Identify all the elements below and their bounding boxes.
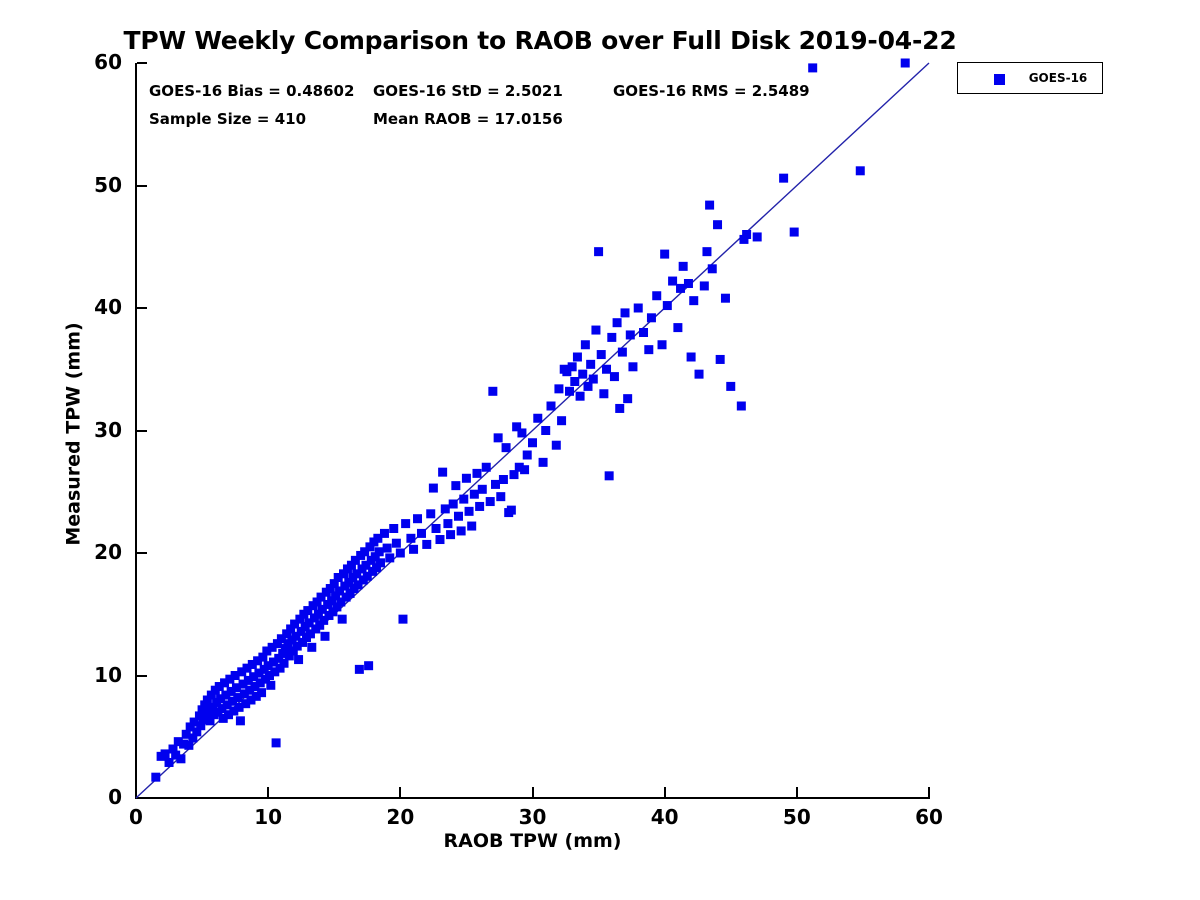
legend-label-goes16: GOES-16 bbox=[1018, 71, 1098, 85]
stat-mean-raob: Mean RAOB = 17.0156 bbox=[373, 110, 563, 128]
x-ticklabel-10: 10 bbox=[238, 805, 298, 829]
x-axis-line bbox=[135, 797, 930, 799]
chart-title: TPW Weekly Comparison to RAOB over Full … bbox=[0, 26, 1080, 55]
x-ticklabel-20: 20 bbox=[370, 805, 430, 829]
legend-marker-goes16 bbox=[994, 74, 1005, 85]
y-tick-10 bbox=[137, 675, 147, 677]
stat-sample-size: Sample Size = 410 bbox=[149, 110, 306, 128]
x-axis-label: RAOB TPW (mm) bbox=[136, 830, 929, 852]
x-ticklabel-50: 50 bbox=[767, 805, 827, 829]
y-tick-50 bbox=[137, 185, 147, 187]
x-tick-10 bbox=[267, 787, 269, 797]
x-tick-20 bbox=[399, 787, 401, 797]
stat-rms: GOES-16 RMS = 2.5489 bbox=[613, 82, 810, 100]
y-tick-30 bbox=[137, 430, 147, 432]
x-tick-50 bbox=[796, 787, 798, 797]
x-ticklabel-40: 40 bbox=[635, 805, 695, 829]
stat-bias: GOES-16 Bias = 0.48602 bbox=[149, 82, 354, 100]
y-tick-60 bbox=[137, 62, 147, 64]
legend-box: GOES-16 bbox=[957, 62, 1103, 94]
y-tick-40 bbox=[137, 307, 147, 309]
x-ticklabel-0: 0 bbox=[106, 805, 166, 829]
x-ticklabel-60: 60 bbox=[899, 805, 959, 829]
plot-area bbox=[136, 63, 929, 798]
stat-std: GOES-16 StD = 2.5021 bbox=[373, 82, 563, 100]
y-tick-0 bbox=[137, 797, 147, 799]
x-tick-0 bbox=[135, 787, 137, 797]
x-ticklabel-30: 30 bbox=[503, 805, 563, 829]
y-tick-20 bbox=[137, 552, 147, 554]
x-tick-60 bbox=[928, 787, 930, 797]
chart-figure: TPW Weekly Comparison to RAOB over Full … bbox=[0, 0, 1200, 900]
x-tick-40 bbox=[664, 787, 666, 797]
y-axis-label: Measured TPW (mm) bbox=[63, 67, 85, 802]
x-tick-30 bbox=[532, 787, 534, 797]
